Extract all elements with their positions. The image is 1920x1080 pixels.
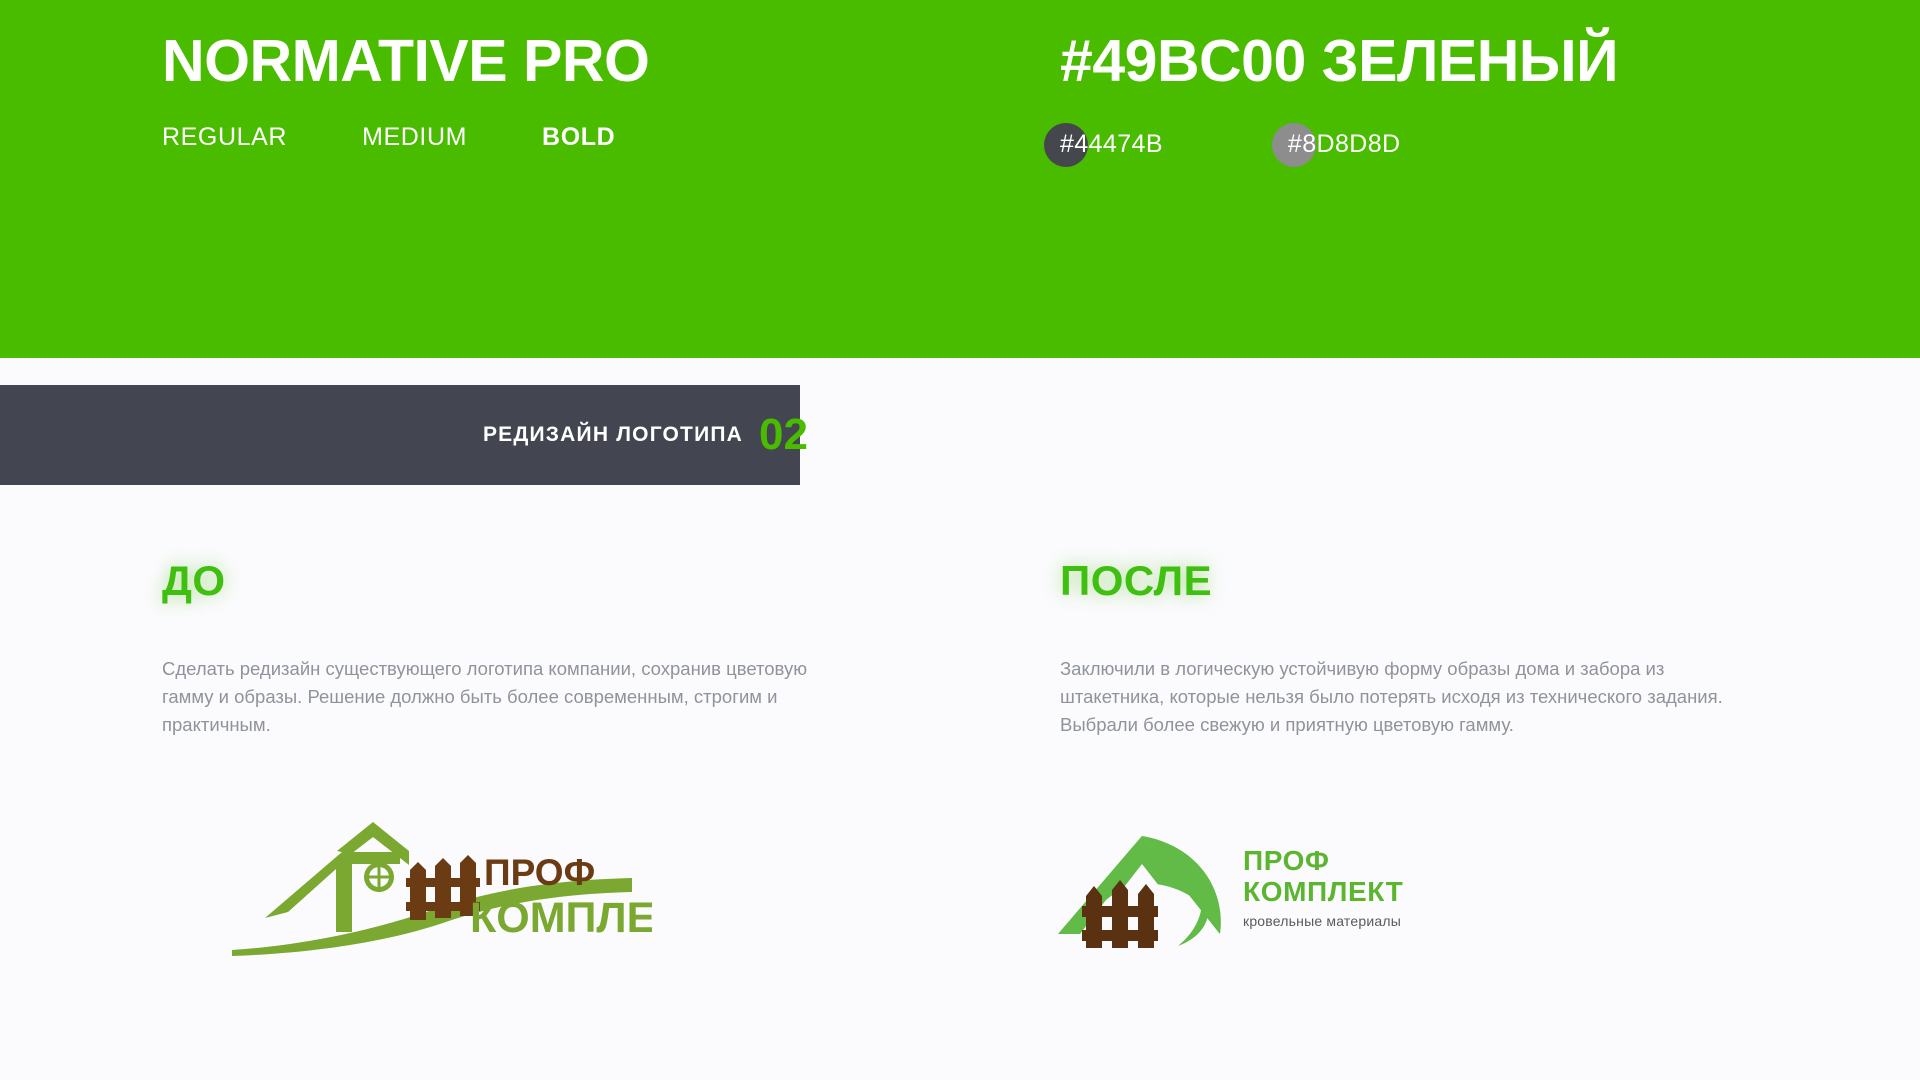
old-logo-icon: ПРОФ КОМПЛЕКТ bbox=[232, 822, 652, 957]
font-family-title: NORMATIVE PRO bbox=[162, 28, 649, 96]
color-swatch-dark: #44474B bbox=[1060, 123, 1163, 167]
font-weight-regular: REGULAR bbox=[162, 123, 287, 152]
old-logo-word-top: ПРОФ bbox=[484, 852, 595, 893]
section-number: 02 bbox=[759, 413, 808, 457]
section-banner-title: РЕДИЗАЙН ЛОГОТИПА bbox=[483, 423, 743, 447]
new-logo-wordmark: ПРОФ КОМПЛЕКТ кровельные материалы bbox=[1243, 845, 1403, 930]
section-banner: РЕДИЗАЙН ЛОГОТИПА 02 bbox=[0, 385, 820, 485]
color-swatch-label: #44474B bbox=[1060, 130, 1163, 159]
font-weight-samples: REGULAR MEDIUM BOLD bbox=[162, 123, 649, 152]
section-banner-content: РЕДИЗАЙН ЛОГОТИПА 02 bbox=[0, 385, 820, 485]
primary-color-title: #49BC00 ЗЕЛЕНЫЙ bbox=[1060, 28, 1618, 96]
comparison-section: ДО Сделать редизайн существующего логоти… bbox=[0, 560, 1920, 1080]
font-spec-block: NORMATIVE PRO REGULAR MEDIUM BOLD bbox=[162, 28, 649, 152]
color-swatch-gray: #8D8D8D bbox=[1288, 123, 1401, 167]
hero-banner: NORMATIVE PRO REGULAR MEDIUM BOLD #49BC0… bbox=[0, 0, 1920, 358]
column-before: ДО Сделать редизайн существующего логоти… bbox=[162, 560, 922, 739]
logo-after: ПРОФ КОМПЛЕКТ кровельные материалы bbox=[1050, 822, 1403, 952]
old-logo-word-bottom: КОМПЛЕКТ bbox=[470, 894, 652, 942]
new-logo-tagline: кровельные материалы bbox=[1243, 913, 1403, 929]
font-weight-medium: MEDIUM bbox=[362, 123, 467, 152]
new-logo-word-bottom: КОМПЛЕКТ bbox=[1243, 876, 1403, 907]
before-heading: ДО bbox=[162, 560, 922, 602]
color-swatch-list: #44474B #8D8D8D bbox=[1060, 123, 1618, 167]
column-after: ПОСЛЕ Заключили в логическую устойчивую … bbox=[1060, 560, 1820, 739]
color-spec-block: #49BC00 ЗЕЛЕНЫЙ #44474B #8D8D8D bbox=[1060, 28, 1618, 167]
font-weight-bold: BOLD bbox=[542, 123, 615, 152]
before-description: Сделать редизайн существующего логотипа … bbox=[162, 655, 862, 739]
color-swatch-label: #8D8D8D bbox=[1288, 130, 1401, 159]
after-description: Заключили в логическую устойчивую форму … bbox=[1060, 655, 1760, 739]
after-heading: ПОСЛЕ bbox=[1060, 560, 1820, 602]
new-logo-icon bbox=[1050, 822, 1225, 952]
new-logo-word-top: ПРОФ bbox=[1243, 845, 1403, 876]
logo-before: ПРОФ КОМПЛЕКТ bbox=[232, 822, 652, 962]
